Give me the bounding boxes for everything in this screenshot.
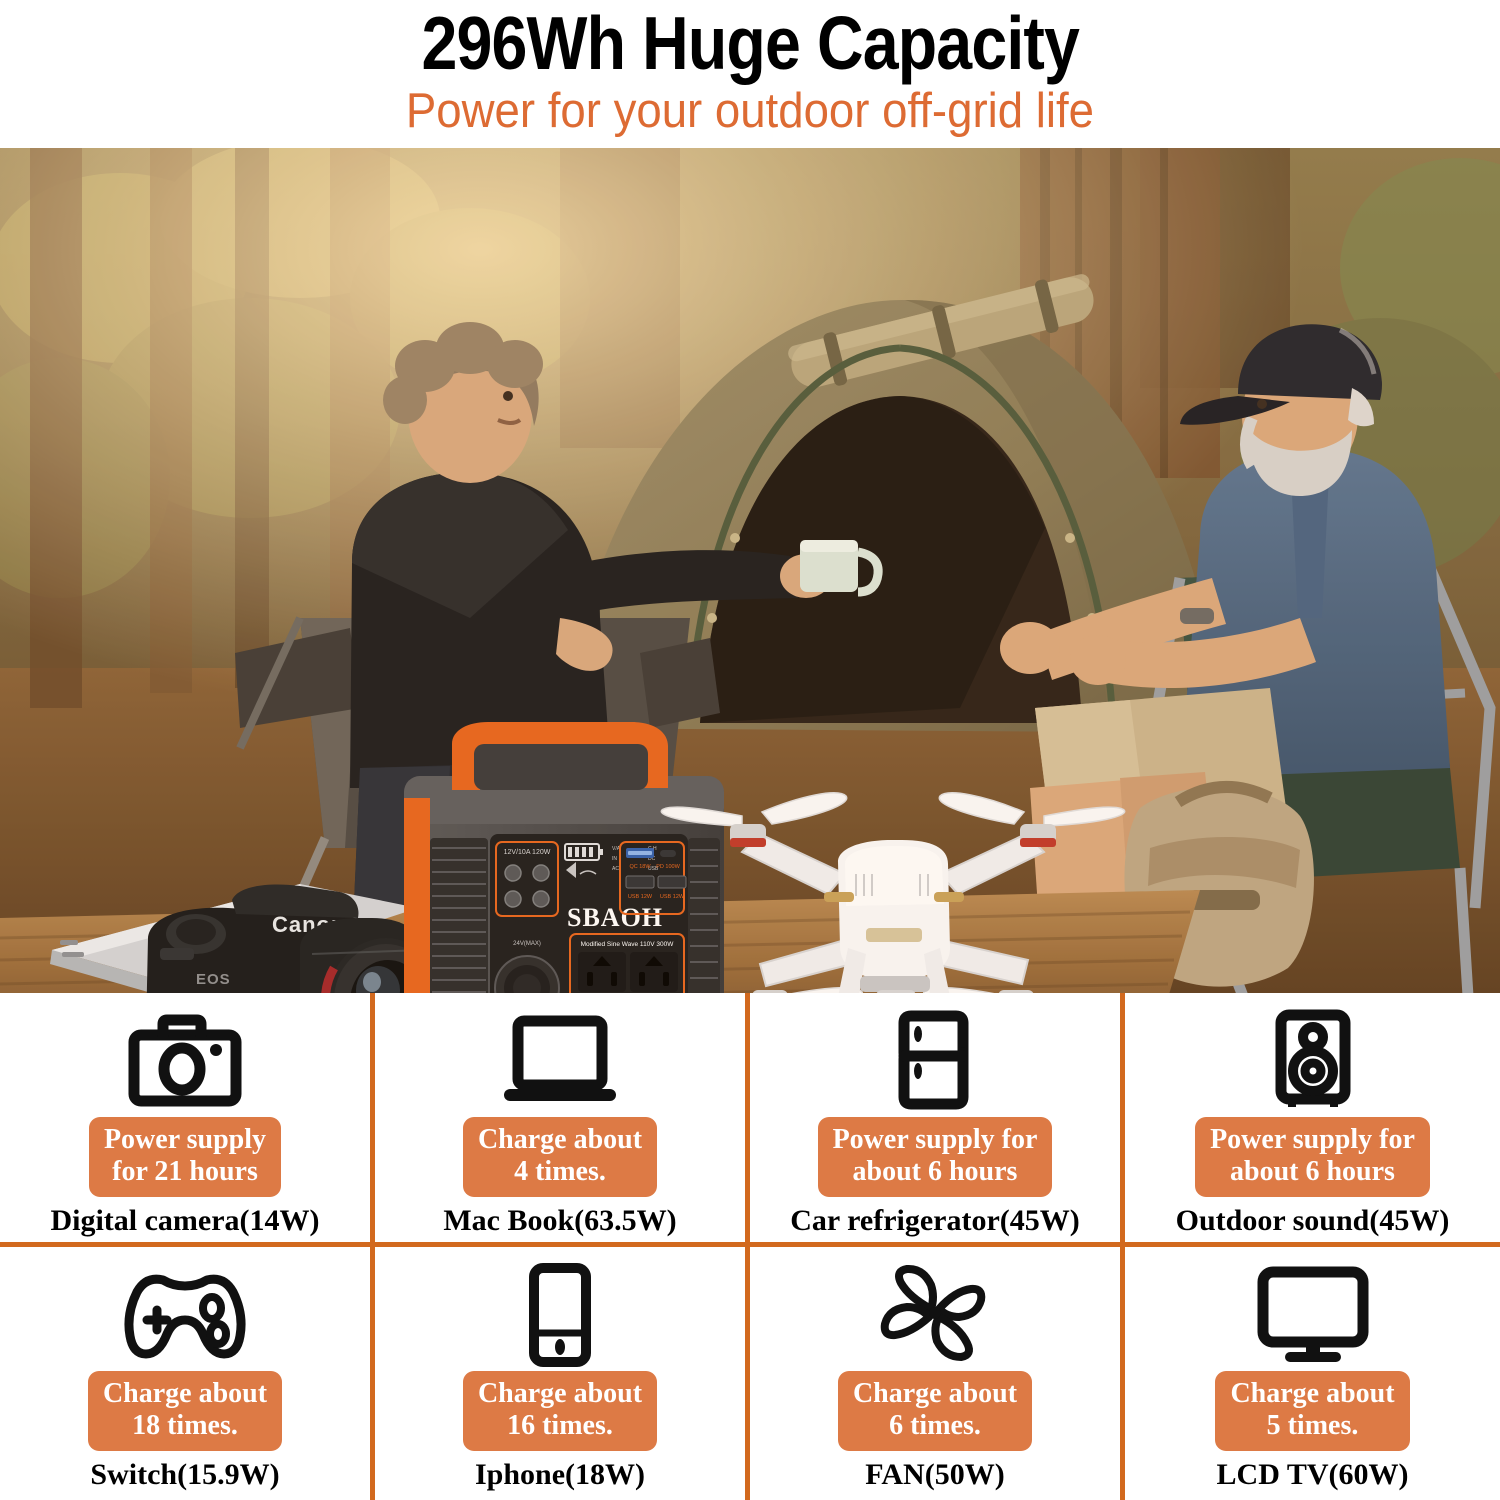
compatibility-grid: Power supply for 21 hours Digital camera… (0, 993, 1500, 1500)
fan-icon (879, 1263, 991, 1367)
feature-cell-lcd-tv: Charge about 5 times. LCD TV(60W) (1125, 1247, 1500, 1500)
feature-cell-switch: Charge about 18 times. Switch(15.9W) (0, 1247, 375, 1500)
smartphone-icon (525, 1263, 595, 1367)
laptop-icon (497, 1009, 623, 1113)
feature-badge: Power supply for 21 hours (89, 1117, 281, 1197)
feature-badge: Charge about 18 times. (88, 1371, 282, 1451)
feature-cell-fan: Charge about 6 times. FAN(50W) (750, 1247, 1125, 1500)
feature-caption: Iphone(18W) (475, 1458, 645, 1492)
feature-caption: Mac Book(63.5W) (443, 1204, 676, 1238)
feature-caption: Outdoor sound(45W) (1176, 1204, 1450, 1238)
feature-caption: Digital camera(14W) (50, 1204, 319, 1238)
feature-badge: Charge about 5 times. (1215, 1371, 1409, 1451)
page-subtitle: Power for your outdoor off-grid life (406, 84, 1094, 138)
feature-cell-outdoor-sound: Power supply for about 6 hours Outdoor s… (1125, 993, 1500, 1247)
feature-badge: Charge about 16 times. (463, 1371, 657, 1451)
feature-caption: Switch(15.9W) (90, 1458, 279, 1492)
feature-cell-iphone: Charge about 16 times. Iphone(18W) (375, 1247, 750, 1500)
feature-cell-digital-camera: Power supply for 21 hours Digital camera… (0, 993, 375, 1247)
feature-caption: Car refrigerator(45W) (790, 1204, 1080, 1238)
hero-photo: EOS 5D Canon (0, 148, 1500, 993)
header: 296Wh Huge Capacity Power for your outdo… (0, 0, 1500, 148)
refrigerator-icon (892, 1009, 978, 1113)
feature-badge: Power supply for about 6 hours (1195, 1117, 1430, 1197)
feature-caption: FAN(50W) (865, 1458, 1004, 1492)
speaker-icon (1270, 1009, 1356, 1113)
camera-icon (125, 1009, 245, 1113)
feature-cell-mac-book: Charge about 4 times. Mac Book(63.5W) (375, 993, 750, 1247)
feature-caption: LCD TV(60W) (1217, 1458, 1409, 1492)
feature-cell-car-refrigerator: Power supply for about 6 hours Car refri… (750, 993, 1125, 1247)
gamepad-icon (119, 1263, 251, 1367)
page-title: 296Wh Huge Capacity (421, 4, 1079, 82)
feature-badge: Charge about 4 times. (463, 1117, 657, 1197)
tv-icon (1254, 1263, 1372, 1367)
feature-badge: Power supply for about 6 hours (818, 1117, 1053, 1197)
feature-badge: Charge about 6 times. (838, 1371, 1032, 1451)
product-infographic: 296Wh Huge Capacity Power for your outdo… (0, 0, 1500, 1500)
